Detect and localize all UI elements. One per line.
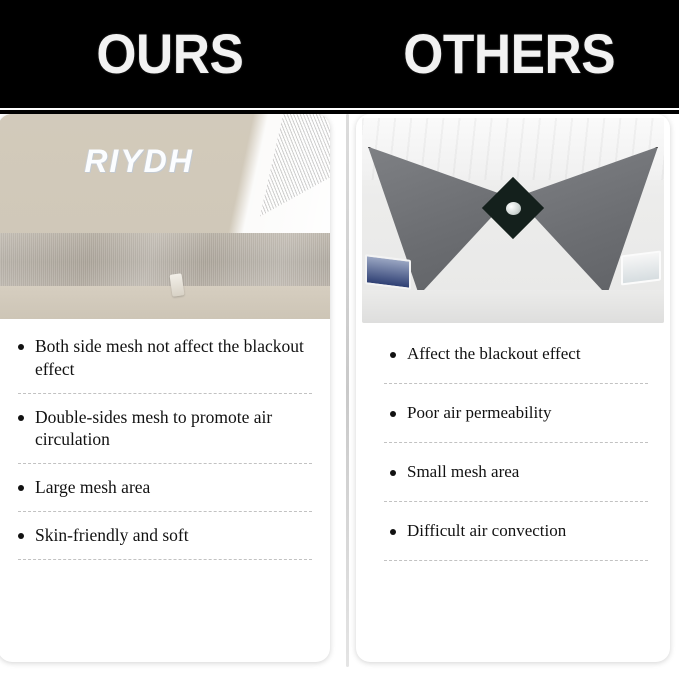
bullet-icon bbox=[18, 344, 24, 350]
feature-text: Large mesh area bbox=[35, 476, 316, 499]
panel-others: Affect the blackout effect Poor air perm… bbox=[356, 114, 670, 662]
comparison-header-banner: OURS OTHERS bbox=[0, 0, 679, 108]
header-cell-ours: OURS bbox=[0, 26, 340, 82]
others-side-pocket-left bbox=[365, 255, 411, 291]
list-separator bbox=[18, 463, 312, 464]
ours-feature-list: Both side mesh not affect the blackout e… bbox=[0, 319, 330, 560]
column-divider bbox=[346, 114, 349, 667]
header-title-others: OTHERS bbox=[403, 26, 615, 82]
others-tent-illustration bbox=[362, 118, 664, 323]
header-cell-others: OTHERS bbox=[340, 26, 679, 82]
list-separator bbox=[18, 393, 312, 394]
list-item: Skin-friendly and soft bbox=[12, 524, 316, 547]
others-feature-list: Affect the blackout effect Poor air perm… bbox=[356, 323, 670, 561]
panel-ours: RIYDH Both side mesh not affect the blac… bbox=[0, 114, 330, 662]
others-side-pocket-right bbox=[621, 251, 661, 286]
list-separator bbox=[18, 511, 312, 512]
feature-text: Affect the blackout effect bbox=[407, 343, 648, 365]
ours-tent-photo: RIYDH bbox=[0, 114, 330, 319]
others-floor-fabric bbox=[362, 290, 664, 323]
list-separator bbox=[384, 442, 648, 443]
list-item: Large mesh area bbox=[12, 476, 316, 499]
list-separator bbox=[384, 501, 648, 502]
feature-text: Difficult air convection bbox=[407, 520, 648, 542]
list-separator bbox=[18, 559, 312, 560]
others-tent-photo bbox=[362, 118, 664, 323]
list-separator bbox=[384, 383, 648, 384]
feature-text: Both side mesh not affect the blackout e… bbox=[35, 335, 316, 381]
bullet-icon bbox=[18, 533, 24, 539]
bullet-icon bbox=[390, 529, 396, 535]
bullet-icon bbox=[18, 485, 24, 491]
header-title-ours: OURS bbox=[96, 26, 243, 82]
ours-tent-illustration: RIYDH bbox=[0, 114, 330, 319]
comparison-columns: RIYDH Both side mesh not affect the blac… bbox=[0, 114, 679, 674]
list-item: Double-sides mesh to promote air circula… bbox=[12, 406, 316, 452]
bullet-icon bbox=[390, 411, 396, 417]
list-item: Affect the blackout effect bbox=[384, 343, 648, 365]
brand-logo-riydh: RIYDH bbox=[84, 143, 194, 180]
list-item: Small mesh area bbox=[384, 461, 648, 483]
list-item: Poor air permeability bbox=[384, 402, 648, 424]
feature-text: Skin-friendly and soft bbox=[35, 524, 316, 547]
feature-text: Double-sides mesh to promote air circula… bbox=[35, 406, 316, 452]
list-separator bbox=[384, 560, 648, 561]
ours-zipper-pull-icon bbox=[169, 274, 184, 297]
list-item: Difficult air convection bbox=[384, 520, 648, 542]
bullet-icon bbox=[390, 352, 396, 358]
feature-text: Poor air permeability bbox=[407, 402, 648, 424]
ours-bottom-hem bbox=[0, 286, 330, 319]
feature-text: Small mesh area bbox=[407, 461, 648, 483]
bullet-icon bbox=[390, 470, 396, 476]
bullet-icon bbox=[18, 415, 24, 421]
ours-mesh-sheen bbox=[0, 233, 330, 286]
list-item: Both side mesh not affect the blackout e… bbox=[12, 335, 316, 381]
